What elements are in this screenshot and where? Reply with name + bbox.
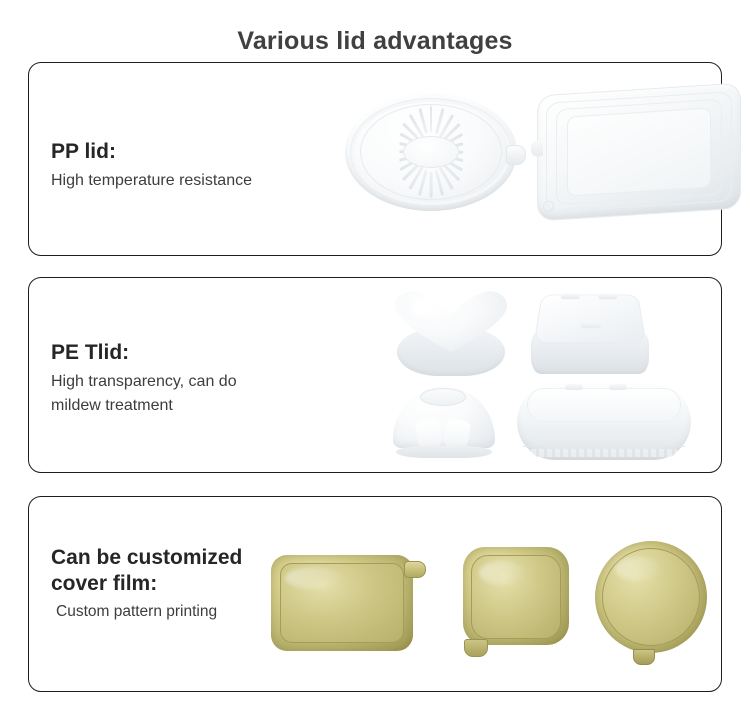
card-pe-tlid: PE Tlid: High transparency, can do milde… <box>28 277 722 473</box>
round-gold-foil-lid-image <box>595 541 707 665</box>
gold-round-highlight <box>615 557 661 581</box>
round-lid-tab <box>506 145 526 165</box>
rectangular-gold-foil-lid-image <box>271 555 413 651</box>
page-title: Various lid advantages <box>0 27 750 56</box>
pp-lid-text-block: PP lid: High temperature resistance <box>51 139 252 193</box>
oval-pe-lid-image <box>517 384 691 460</box>
pe-tlid-heading: PE Tlid: <box>51 340 237 366</box>
pe-tlid-text-block: PE Tlid: High transparency, can do milde… <box>51 340 237 418</box>
pe-tlid-subtitle: High transparency, can do mildew treatme… <box>51 370 237 419</box>
rect-lid-side-tab <box>531 140 543 157</box>
dome-lid-lip <box>396 446 492 458</box>
square-gold-foil-lid-image <box>463 547 569 657</box>
cover-film-text-block: Can be customized cover film: Custom pat… <box>51 545 242 624</box>
square-lid-notch <box>561 294 580 299</box>
rect-lid-ring-inner <box>567 107 711 196</box>
square-lid-notch <box>581 322 602 329</box>
gold-square-highlight <box>479 561 525 585</box>
square-pe-lid-image <box>531 290 649 374</box>
heart-shaped-pe-lid-image <box>395 290 507 376</box>
card-customized-cover-film: Can be customized cover film: Custom pat… <box>28 496 722 692</box>
cover-film-heading: Can be customized cover film: <box>51 545 242 596</box>
dome-pe-lid-image <box>393 386 495 460</box>
gold-rect-highlight <box>285 567 343 589</box>
gold-round-tab <box>633 649 655 665</box>
oval-lid-tab <box>565 384 583 390</box>
oval-lid-top-face <box>527 388 681 422</box>
square-lid-notch <box>598 294 617 299</box>
heart-lid-gloss <box>411 298 459 318</box>
cover-film-subtitle: Custom pattern printing <box>51 600 242 624</box>
oval-lid-skirt-teeth <box>531 449 677 457</box>
oval-lid-tab <box>609 384 627 390</box>
oval-lid-rim-line <box>523 446 685 447</box>
pp-lid-heading: PP lid: <box>51 139 252 165</box>
round-lid-center-hub <box>403 136 459 168</box>
gold-rect-tab <box>404 561 426 578</box>
pp-lid-subtitle: High temperature resistance <box>51 169 252 193</box>
round-pp-lid-image <box>345 93 517 211</box>
square-lid-top-face <box>534 295 647 344</box>
dome-lid-straw-hole <box>420 388 466 406</box>
card-pp-lid: PP lid: High temperature resistance <box>28 62 722 256</box>
rectangular-pp-lid-image <box>537 83 741 222</box>
gold-square-tab <box>464 639 488 657</box>
